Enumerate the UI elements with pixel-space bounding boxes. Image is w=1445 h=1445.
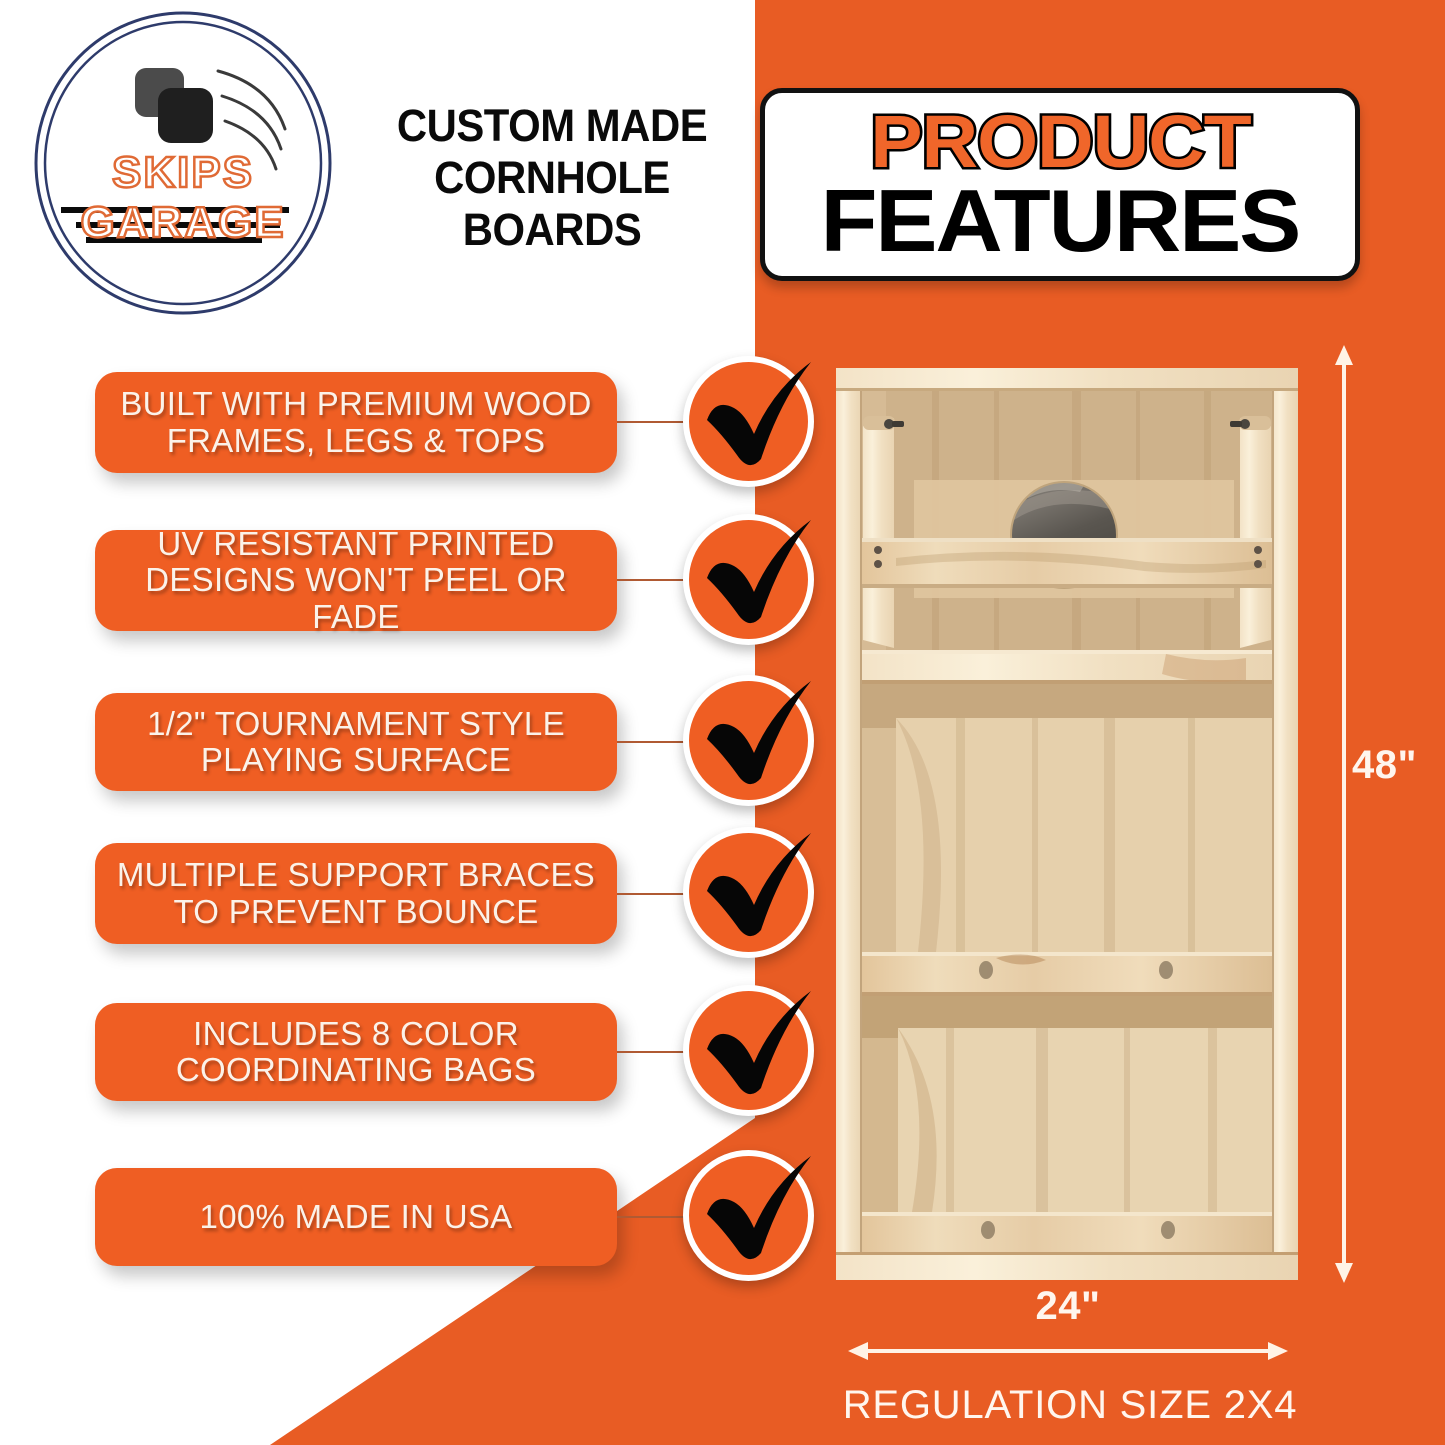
- logo-wordmark: SKIPS GARAGE: [18, 148, 348, 248]
- infographic-canvas: SKIPS GARAGE CUSTOM MADE CORNHOLE BOARDS…: [0, 0, 1445, 1445]
- feature-row: BUILT WITH PREMIUM WOOD FRAMES, LEGS & T…: [0, 372, 830, 512]
- width-dimension-label: 24": [848, 1284, 1288, 1329]
- feature-connector: [617, 893, 689, 895]
- feature-pill[interactable]: MULTIPLE SUPPORT BRACES TO PREVENT BOUNC…: [95, 843, 617, 944]
- feature-pill[interactable]: BUILT WITH PREMIUM WOOD FRAMES, LEGS & T…: [95, 372, 617, 473]
- feature-pill[interactable]: 1/2" TOURNAMENT STYLE PLAYING SURFACE: [95, 693, 617, 791]
- feature-connector: [617, 741, 689, 743]
- page-title: CUSTOM MADE CORNHOLE BOARDS: [366, 100, 738, 257]
- regulation-size-note: REGULATION SIZE 2X4: [790, 1383, 1350, 1428]
- feature-label: BUILT WITH PREMIUM WOOD FRAMES, LEGS & T…: [95, 386, 617, 459]
- banner-line-features: FEATURES: [821, 179, 1300, 263]
- feature-connector: [617, 421, 689, 423]
- feature-label: 100% MADE IN USA: [186, 1199, 527, 1235]
- feature-check-badge: [683, 985, 814, 1116]
- width-dimension-arrow: [848, 1340, 1288, 1362]
- feature-row: MULTIPLE SUPPORT BRACES TO PREVENT BOUNC…: [0, 843, 830, 983]
- feature-check-badge: [683, 827, 814, 958]
- feature-label: 1/2" TOURNAMENT STYLE PLAYING SURFACE: [95, 706, 617, 779]
- height-dimension-label: 48": [1352, 743, 1417, 788]
- feature-pill[interactable]: 100% MADE IN USA: [95, 1168, 617, 1266]
- feature-label: INCLUDES 8 COLOR COORDINATING BAGS: [95, 1016, 617, 1089]
- feature-connector: [617, 1051, 689, 1053]
- feature-check-badge: [683, 1150, 814, 1281]
- feature-check-badge: [683, 356, 814, 487]
- feature-row: INCLUDES 8 COLOR COORDINATING BAGS: [0, 1003, 830, 1143]
- feature-row: 100% MADE IN USA: [0, 1168, 830, 1308]
- feature-label: MULTIPLE SUPPORT BRACES TO PREVENT BOUNC…: [95, 857, 617, 930]
- feature-row: 1/2" TOURNAMENT STYLE PLAYING SURFACE: [0, 693, 830, 833]
- feature-connector: [617, 579, 689, 581]
- feature-label: UV RESISTANT PRINTED DESIGNS WON'T PEEL …: [95, 526, 617, 635]
- feature-pill[interactable]: UV RESISTANT PRINTED DESIGNS WON'T PEEL …: [95, 530, 617, 631]
- feature-row: UV RESISTANT PRINTED DESIGNS WON'T PEEL …: [0, 530, 830, 670]
- banner-line-product: PRODUCT: [870, 107, 1250, 177]
- height-dimension-arrow: [1332, 345, 1356, 1283]
- feature-connector: [617, 1216, 689, 1218]
- product-features-banner: PRODUCT FEATURES: [760, 88, 1360, 281]
- feature-check-badge: [683, 675, 814, 806]
- cornhole-board-photo: [836, 368, 1298, 1280]
- brand-logo[interactable]: SKIPS GARAGE: [18, 8, 348, 318]
- feature-pill[interactable]: INCLUDES 8 COLOR COORDINATING BAGS: [95, 1003, 617, 1101]
- feature-check-badge: [683, 514, 814, 645]
